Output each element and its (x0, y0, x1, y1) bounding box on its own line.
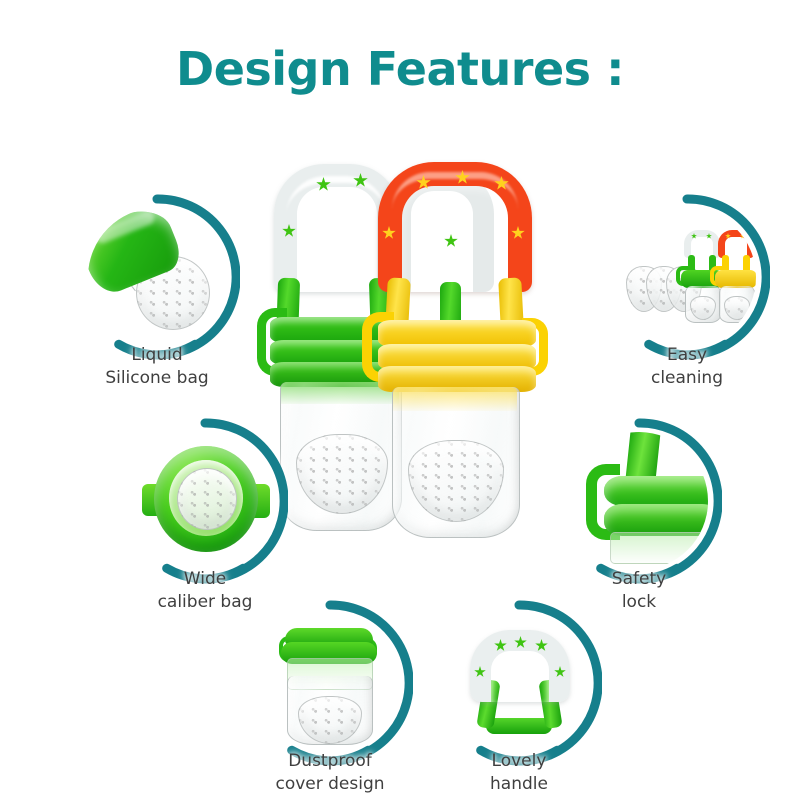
mini-yellow-feeder (714, 230, 756, 322)
handle-green-base (486, 718, 552, 734)
callout-easy-cleaning[interactable]: Easy cleaning (604, 194, 770, 360)
callout-label-line2: Silicone bag (47, 367, 267, 390)
callout-wide-caliber-bag[interactable]: Wide caliber bag (122, 418, 288, 584)
safety-lock-cup-edge (610, 532, 708, 564)
callout-dustproof-cover-design[interactable]: Dustproof cover design (247, 600, 413, 766)
callout-art-dustproof-cover-design (261, 614, 399, 752)
callout-liquid-silicone-bag[interactable]: Liquid Silicone bag (74, 194, 240, 360)
callout-label-line2: cover design (220, 773, 440, 796)
callout-label-line2: cleaning (577, 367, 797, 390)
callout-lovely-handle[interactable]: Lovely handle (436, 600, 602, 766)
callout-art-wide-caliber-bag (136, 432, 274, 570)
infographic-canvas: Design Features : (0, 0, 800, 800)
yellow-feeder (378, 162, 558, 562)
callout-art-lovely-handle (450, 614, 588, 752)
yellow-feeder-handle (378, 162, 532, 292)
yellow-feeder-cup-tint (393, 387, 517, 411)
callout-art-easy-cleaning (618, 208, 756, 346)
callout-label-line2: handle (409, 773, 629, 796)
safety-lock-collar-rib1 (604, 476, 708, 506)
page-title: Design Features : (0, 42, 800, 96)
callout-art-liquid-silicone-bag (88, 208, 226, 346)
callout-art-safety-lock (570, 432, 708, 570)
yellow-feeder-collar (378, 320, 536, 392)
callout-safety-lock[interactable]: Safety lock (556, 418, 722, 584)
caliber-mesh-disc (177, 468, 237, 530)
product-hero (270, 160, 570, 560)
